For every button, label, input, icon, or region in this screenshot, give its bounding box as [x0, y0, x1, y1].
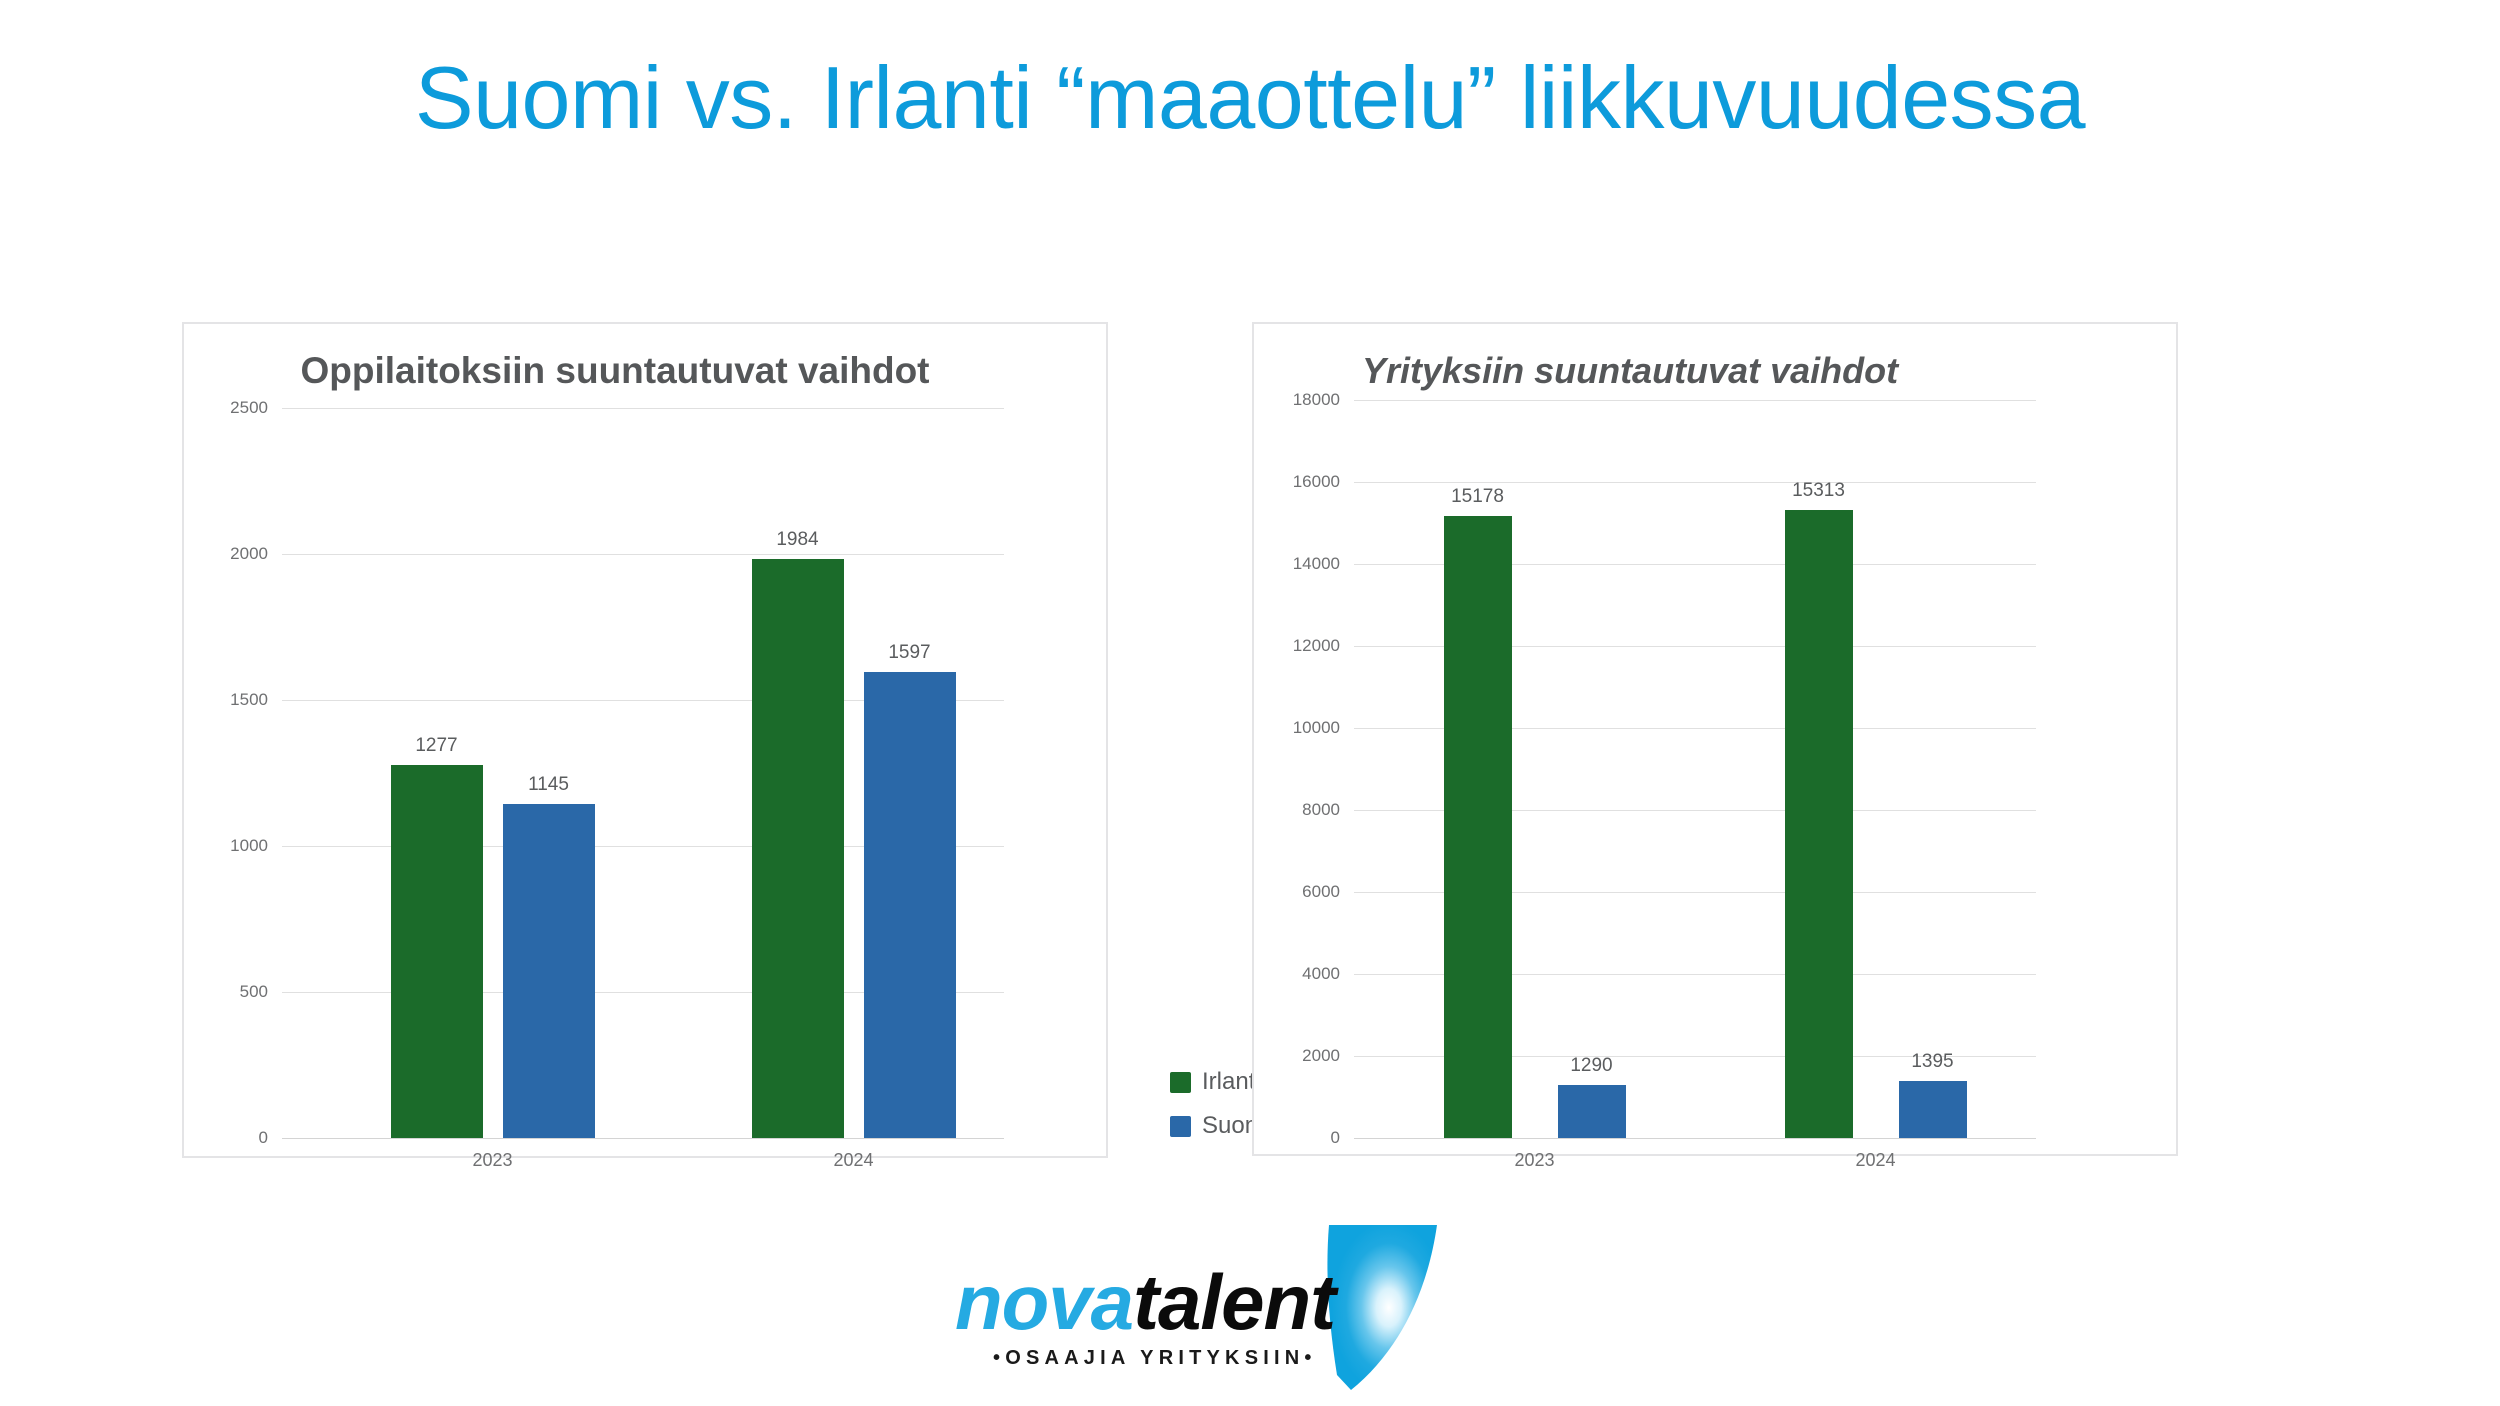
bar-suomeen-2023[interactable] — [503, 804, 595, 1138]
x-axis-tick-label: 2024 — [1855, 1150, 1895, 1171]
legend-swatch-icon — [1170, 1116, 1191, 1137]
logo-nova-text: nova — [955, 1258, 1133, 1346]
x-axis-tick-label: 2023 — [472, 1150, 512, 1171]
logo-talent-text: talent — [1133, 1258, 1335, 1346]
x-axis-tick-label: 2023 — [1514, 1150, 1554, 1171]
logo-wordmark: novatalent — [955, 1263, 1335, 1341]
y-axis-tick-label: 0 — [259, 1128, 268, 1148]
bar-irlantiin-2023[interactable] — [391, 765, 483, 1138]
bar-value-label: 15178 — [1451, 486, 1504, 508]
bar-value-label: 15313 — [1792, 480, 1845, 502]
legend-swatch-icon — [1170, 1072, 1191, 1093]
gridline: 0 — [1354, 1138, 2036, 1139]
bar-irlantiin-2024[interactable] — [1785, 510, 1853, 1138]
bar-value-label: 1290 — [1570, 1055, 1612, 1077]
bar-value-label: 1395 — [1911, 1051, 1953, 1073]
plot-area: 0500100015002000250012771145202319841597… — [282, 408, 1004, 1138]
chart-card-oppilaitoksiin[interactable]: Oppilaitoksiin suuntautuvat vaihdot 0500… — [182, 322, 1108, 1158]
y-axis-tick-label: 4000 — [1302, 964, 1340, 984]
y-axis-tick-label: 2000 — [1302, 1046, 1340, 1066]
y-axis-tick-label: 2000 — [230, 544, 268, 564]
bar-value-label: 1984 — [776, 529, 818, 551]
page-title: Suomi vs. Irlanti “maaottelu” liikkuvuud… — [0, 52, 2500, 144]
y-axis-tick-label: 6000 — [1302, 882, 1340, 902]
sail-swoosh-icon — [1321, 1225, 1437, 1390]
slide-canvas: Suomi vs. Irlanti “maaottelu” liikkuvuud… — [0, 0, 2500, 1406]
y-axis-tick-label: 1000 — [230, 836, 268, 856]
y-axis-tick-label: 1500 — [230, 690, 268, 710]
y-axis-tick-label: 18000 — [1293, 390, 1340, 410]
bar-suomeen-2024[interactable] — [864, 672, 956, 1138]
bar-value-label: 1597 — [888, 642, 930, 664]
y-axis-tick-label: 16000 — [1293, 472, 1340, 492]
y-axis-tick-label: 14000 — [1293, 554, 1340, 574]
chart-title: Yrityksiin suuntautuvat vaihdot — [1362, 350, 1898, 392]
bar-suomeen-2024[interactable] — [1899, 1081, 1967, 1138]
y-axis-tick-label: 2500 — [230, 398, 268, 418]
y-axis-tick-label: 0 — [1331, 1128, 1340, 1148]
x-axis-tick-label: 2024 — [833, 1150, 873, 1171]
y-axis-tick-label: 8000 — [1302, 800, 1340, 820]
bar-irlantiin-2023[interactable] — [1444, 516, 1512, 1138]
bar-suomeen-2023[interactable] — [1558, 1085, 1626, 1138]
bar-value-label: 1145 — [528, 774, 569, 796]
gridline: 2000 — [282, 554, 1004, 555]
gridline: 0 — [282, 1138, 1004, 1139]
bar-irlantiin-2024[interactable] — [752, 559, 844, 1138]
logo-tagline: •OSAAJIA YRITYKSIIN• — [993, 1347, 1317, 1370]
gridline: 2500 — [282, 408, 1004, 409]
novatalent-logo: novatalent •OSAAJIA YRITYKSIIN• — [945, 1235, 1445, 1390]
chart-card-yrityksiin[interactable]: Yrityksiin suuntautuvat vaihdot 02000400… — [1252, 322, 2178, 1156]
gridline: 16000 — [1354, 482, 2036, 483]
bar-value-label: 1277 — [415, 735, 457, 757]
chart-title: Oppilaitoksiin suuntautuvat vaihdot — [184, 350, 1106, 392]
y-axis-tick-label: 500 — [240, 982, 268, 1002]
plot-area: 0200040006000800010000120001400016000180… — [1354, 400, 2036, 1138]
gridline: 18000 — [1354, 400, 2036, 401]
y-axis-tick-label: 10000 — [1293, 718, 1340, 738]
y-axis-tick-label: 12000 — [1293, 636, 1340, 656]
